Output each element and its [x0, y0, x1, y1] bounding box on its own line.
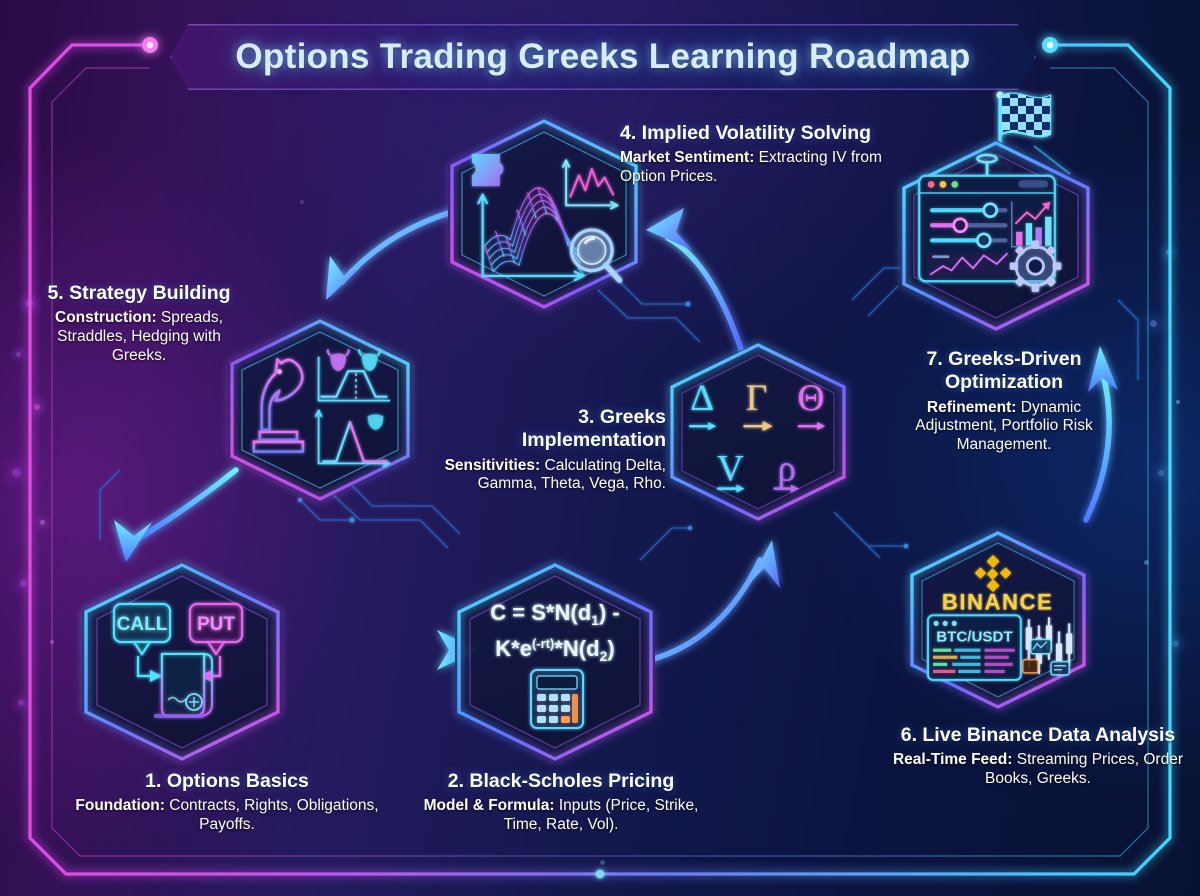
svg-text:BTC/USDT: BTC/USDT — [937, 628, 1014, 645]
node-black-scholes-pricing[interactable]: C = S*N(d1) - K*e(-rt)*N(d2) — [455, 562, 655, 762]
node-strategy-building[interactable] — [228, 318, 412, 502]
label-lead: Refinement: — [927, 399, 1017, 416]
svg-text:PUT: PUT — [197, 614, 235, 635]
label-live-binance-data-analysis: 6. Live Binance Data Analysis Real-Time … — [890, 724, 1186, 789]
svg-text:Γ: Γ — [746, 378, 768, 419]
node-implied-volatility-solving[interactable] — [448, 118, 640, 310]
node-greeks-implementation[interactable]: Δ Γ Θ V ρ — [668, 342, 848, 522]
greek-letters-icon: Δ Γ Θ V ρ — [682, 371, 833, 493]
label-lead: Sensitivities: — [445, 457, 541, 474]
label-title: 4. Implied Volatility Solving — [620, 122, 910, 145]
node-options-basics[interactable]: CALL PUT — [82, 562, 282, 762]
node-live-binance-data-analysis[interactable]: BINANCE BTC/USDT — [908, 530, 1088, 710]
label-black-scholes-pricing: 2. Black-Scholes Pricing Model & Formula… — [408, 770, 714, 835]
label-desc: Real-Time Feed: Streaming Prices, Order … — [890, 751, 1186, 788]
label-lead: Foundation: — [75, 797, 165, 814]
svg-text:C = S*N(d1) -: C = S*N(d1) - — [490, 600, 619, 628]
label-desc: Market Sentiment: Extracting IV from Opt… — [620, 149, 910, 186]
label-title: 6. Live Binance Data Analysis — [890, 724, 1186, 747]
label-greeks-implementation: 3. Greeks Implementation Sensitivities: … — [440, 406, 666, 494]
label-lead: Construction: — [55, 309, 157, 326]
label-greeks-driven-optimization: 7. Greeks-Driven Optimization Refinement… — [896, 348, 1112, 455]
node-greeks-driven-optimization[interactable] — [900, 140, 1092, 332]
svg-text:Δ: Δ — [691, 378, 715, 419]
label-lead: Market Sentiment: — [620, 149, 754, 166]
label-implied-volatility-solving: 4. Implied Volatility Solving Market Sen… — [620, 122, 910, 187]
label-desc: Sensitivities: Calculating Delta, Gamma,… — [440, 457, 666, 494]
label-desc: Construction: Spreads, Straddles, Hedgin… — [44, 309, 234, 365]
title-text: Options Trading Greeks Learning Roadmap — [235, 37, 970, 77]
svg-text:Θ: Θ — [798, 378, 825, 419]
label-strategy-building: 5. Strategy Building Construction: Sprea… — [44, 282, 234, 365]
label-detail: Contracts, Rights, Obligations, Payoffs. — [165, 797, 379, 833]
svg-text:ρ: ρ — [778, 448, 797, 489]
formula-calculator-icon: C = S*N(d1) - K*e(-rt)*N(d2) — [475, 592, 635, 732]
svg-text:BINANCE: BINANCE — [942, 589, 1054, 614]
label-options-basics: 1. Options Basics Foundation: Contracts,… — [62, 770, 392, 835]
chess-knight-payoff-icon — [246, 346, 393, 475]
dashboard-gear-icon — [915, 165, 1076, 307]
svg-text:V: V — [717, 448, 744, 489]
label-desc: Model & Formula: Inputs (Price, Strike, … — [408, 797, 714, 834]
label-title: 3. Greeks Implementation — [440, 406, 666, 453]
label-lead: Model & Formula: — [424, 797, 555, 814]
label-title: 5. Strategy Building — [44, 282, 234, 305]
label-desc: Foundation: Contracts, Rights, Obligatio… — [62, 797, 392, 834]
page-title: Options Trading Greeks Learning Roadmap — [170, 24, 1036, 90]
label-title: 2. Black-Scholes Pricing — [408, 770, 714, 793]
binance-orderbook-icon: BINANCE BTC/USDT — [922, 552, 1073, 689]
label-title: 7. Greeks-Driven Optimization — [896, 348, 1112, 395]
call-put-contract-icon: CALL PUT — [112, 600, 252, 724]
svg-text:CALL: CALL — [117, 614, 168, 635]
label-desc: Refinement: Dynamic Adjustment, Portfoli… — [896, 399, 1112, 455]
label-title: 1. Options Basics — [62, 770, 392, 793]
label-lead: Real-Time Feed: — [893, 751, 1012, 768]
label-detail: Streaming Prices, Order Books, Greeks. — [985, 751, 1183, 787]
volatility-surface-icon — [463, 139, 624, 289]
svg-text:K*e(-rt)*N(d2): K*e(-rt)*N(d2) — [495, 636, 614, 664]
